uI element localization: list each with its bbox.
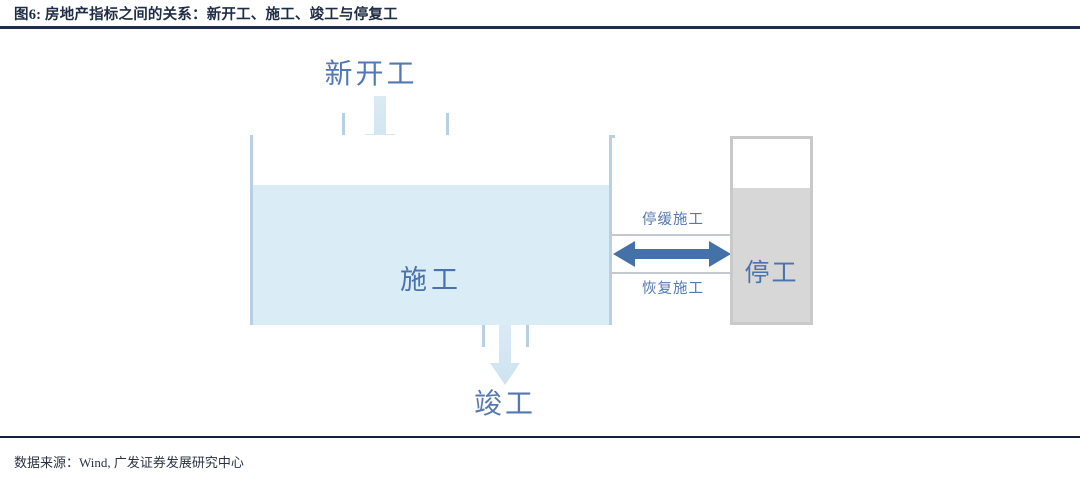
connector-pipe-wall-bottom [610,272,733,274]
label-work-stoppage: 停工 [730,253,813,289]
outflow-down-arrow-icon [490,325,520,387]
title-divider-top [0,26,1080,29]
double-arrow-icon [613,238,731,270]
outflow-pipe-wall-right [526,325,529,347]
label-under-construction: 施工 [253,258,609,297]
label-completion: 竣工 [430,382,580,422]
diagram-canvas: 新开工 施工 [0,30,1080,430]
connector-pipe-wall-top [610,234,733,236]
source-divider-bottom [0,436,1080,438]
label-resume-construction: 恢复施工 [614,277,732,298]
figure-title: 图6: 房地产指标之间的关系：新开工、施工、竣工与停复工 [14,3,398,24]
main-tank-fill-level [253,185,609,325]
source-note: 数据来源：Wind, 广发证券发展研究中心 [14,452,244,471]
outflow-pipe-wall-left [482,325,485,347]
label-suspend-construction: 停缓施工 [614,208,732,229]
label-new-construction-starts: 新开工 [296,52,446,92]
